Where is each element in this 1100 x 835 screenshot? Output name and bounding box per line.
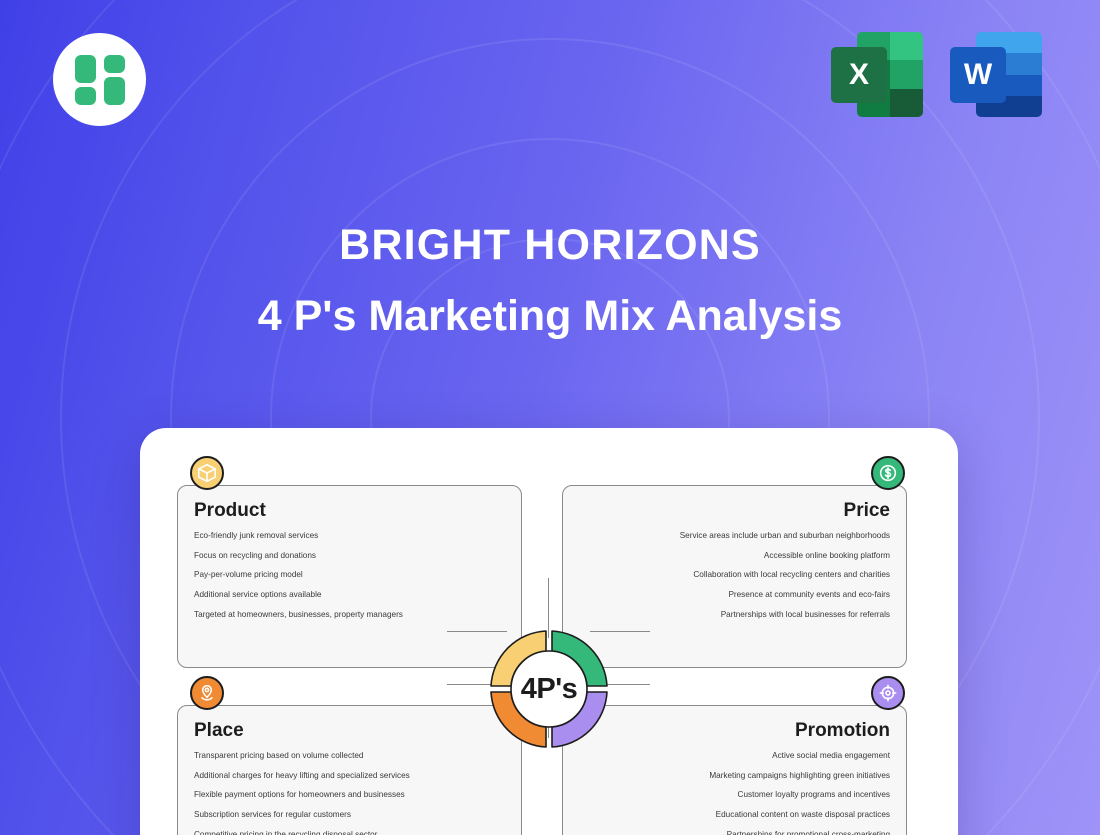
target-crosshair-icon[interactable]: [871, 676, 905, 710]
list-item: Flexible payment options for homeowners …: [194, 791, 505, 799]
list-item: Marketing campaigns highlighting green i…: [579, 772, 890, 780]
poster-canvas: X W BRIGHT HORIZONS 4 P's Marketing Mix …: [0, 0, 1100, 835]
list-item: Collaboration with local recycling cente…: [579, 571, 890, 579]
dollar-coin-icon[interactable]: [871, 456, 905, 490]
list-item: Additional service options available: [194, 591, 505, 599]
donut-center-label: 4P's: [473, 613, 625, 765]
quadrant-price-title: Price: [563, 486, 906, 522]
word-icon-letter: W: [950, 47, 1006, 103]
quadrant-place[interactable]: Place Transparent pricing based on volum…: [177, 705, 522, 835]
list-item: Presence at community events and eco-fai…: [579, 591, 890, 599]
list-item: Partnerships for promotional cross-marke…: [579, 831, 890, 835]
quadrant-place-title: Place: [178, 706, 521, 742]
quadrant-place-list: Transparent pricing based on volume coll…: [178, 742, 521, 835]
list-item: Pay-per-volume pricing model: [194, 571, 505, 579]
list-item: Accessible online booking platform: [579, 552, 890, 560]
list-item: Customer loyalty programs and incentives: [579, 791, 890, 799]
excel-icon[interactable]: X: [831, 27, 926, 122]
office-icons-group: X W: [831, 27, 1045, 122]
list-item: Focus on recycling and donations: [194, 552, 505, 560]
brand-logo[interactable]: [53, 33, 146, 126]
list-item: Active social media engagement: [579, 752, 890, 760]
list-item: Partnerships with local businesses for r…: [579, 611, 890, 619]
quadrant-product-list: Eco-friendly junk removal services Focus…: [178, 522, 521, 619]
list-item: Service areas include urban and suburban…: [579, 532, 890, 540]
page-title: BRIGHT HORIZONS: [0, 222, 1100, 269]
list-item: Competitive pricing in the recycling dis…: [194, 831, 505, 835]
grid-squares-logo-icon: [75, 55, 125, 105]
page-subtitle: 4 P's Marketing Mix Analysis: [0, 293, 1100, 340]
four-ps-donut-chart: 4P's: [473, 613, 625, 765]
list-item: Eco-friendly junk removal services: [194, 532, 505, 540]
list-item: Educational content on waste disposal pr…: [579, 811, 890, 819]
list-item: Additional charges for heavy lifting and…: [194, 772, 505, 780]
location-pin-icon[interactable]: [190, 676, 224, 710]
excel-icon-letter: X: [831, 47, 887, 103]
package-box-icon[interactable]: [190, 456, 224, 490]
quadrant-price-list: Service areas include urban and suburban…: [563, 522, 906, 619]
list-item: Targeted at homeowners, businesses, prop…: [194, 611, 505, 619]
header-block: BRIGHT HORIZONS 4 P's Marketing Mix Anal…: [0, 222, 1100, 341]
quadrant-product-title: Product: [178, 486, 521, 522]
list-item: Subscription services for regular custom…: [194, 811, 505, 819]
list-item: Transparent pricing based on volume coll…: [194, 752, 505, 760]
word-icon[interactable]: W: [950, 27, 1045, 122]
quadrant-product[interactable]: Product Eco-friendly junk removal servic…: [177, 485, 522, 668]
